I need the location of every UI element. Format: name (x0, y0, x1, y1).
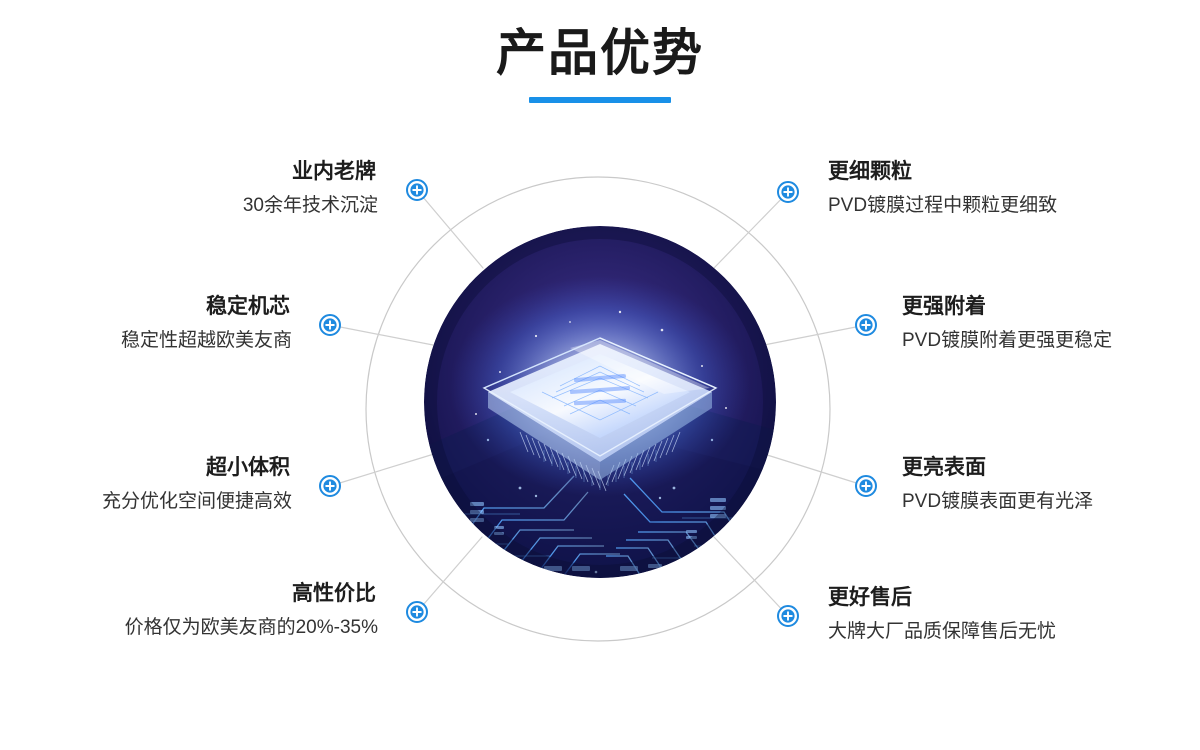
plus-icon-marker-left-2[interactable] (319, 314, 341, 336)
feature-left-2-title: 稳定机芯 (0, 293, 292, 321)
center-photo-circle (424, 226, 776, 578)
plus-icon (855, 475, 877, 497)
feature-right-2: 更强附着 PVD镀膜附着更强更稳定 (902, 293, 1200, 354)
feature-right-1: 更细颗粒 PVD镀膜过程中颗粒更细致 (828, 158, 1200, 219)
plus-icon-marker-right-3[interactable] (855, 475, 877, 497)
feature-left-3: 超小体积 充分优化空间便捷高效 (0, 454, 292, 515)
feature-left-4-title: 高性价比 (0, 580, 378, 608)
plus-icon-marker-right-2[interactable] (855, 314, 877, 336)
feature-left-2-desc: 稳定性超越欧美友商 (0, 328, 292, 354)
feature-left-3-desc: 充分优化空间便捷高效 (0, 489, 292, 515)
feature-right-1-desc: PVD镀膜过程中颗粒更细致 (828, 193, 1200, 219)
plus-icon-marker-right-1[interactable] (777, 181, 799, 203)
plus-icon-marker-left-4[interactable] (406, 601, 428, 623)
feature-right-3-desc: PVD镀膜表面更有光泽 (902, 489, 1200, 515)
plus-icon (777, 181, 799, 203)
feature-right-1-title: 更细颗粒 (828, 158, 1200, 186)
feature-left-4: 高性价比 价格仅为欧美友商的20%-35% (0, 580, 378, 641)
plus-icon (777, 605, 799, 627)
product-advantages-infographic: 产品优势 (0, 0, 1200, 750)
connector-left-1 (417, 190, 483, 268)
connector-right-1 (714, 192, 788, 268)
cpu-circuit-board-photo (424, 226, 776, 578)
feature-left-4-desc: 价格仅为欧美友商的20%-35% (0, 615, 378, 641)
plus-icon-marker-left-3[interactable] (319, 475, 341, 497)
feature-left-1-desc: 30余年技术沉淀 (0, 193, 378, 219)
feature-left-3-title: 超小体积 (0, 454, 292, 482)
feature-right-2-desc: PVD镀膜附着更强更稳定 (902, 328, 1200, 354)
feature-right-4-title: 更好售后 (828, 584, 1200, 612)
plus-icon (406, 601, 428, 623)
feature-right-3-title: 更亮表面 (902, 454, 1200, 482)
plus-icon (855, 314, 877, 336)
connector-left-2 (330, 325, 433, 345)
plus-icon-marker-left-1[interactable] (406, 179, 428, 201)
feature-right-4-desc: 大牌大厂品质保障售后无忧 (828, 619, 1200, 645)
plus-icon (406, 179, 428, 201)
connector-right-3 (764, 454, 866, 486)
connector-left-3 (330, 454, 434, 486)
feature-left-2: 稳定机芯 稳定性超越欧美友商 (0, 293, 292, 354)
plus-icon (319, 314, 341, 336)
feature-right-2-title: 更强附着 (902, 293, 1200, 321)
feature-right-3: 更亮表面 PVD镀膜表面更有光泽 (902, 454, 1200, 515)
plus-icon (319, 475, 341, 497)
feature-right-4: 更好售后 大牌大厂品质保障售后无忧 (828, 584, 1200, 645)
plus-icon-marker-right-4[interactable] (777, 605, 799, 627)
feature-left-1-title: 业内老牌 (0, 158, 378, 186)
diagram-stage: 业内老牌 30余年技术沉淀 稳定机芯 稳定性超越欧美友商 超小体积 充分优化空间… (0, 0, 1200, 750)
feature-left-1: 业内老牌 30余年技术沉淀 (0, 158, 378, 219)
